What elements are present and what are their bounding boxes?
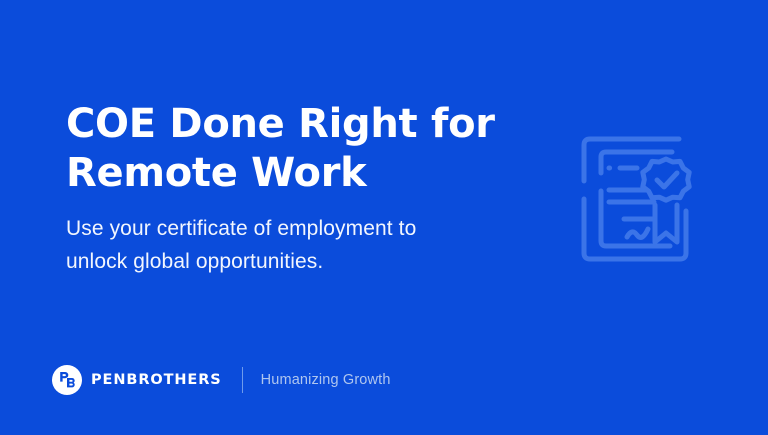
brand-name: PENBROTHERS — [91, 372, 222, 388]
brand-tagline: Humanizing Growth — [261, 372, 391, 388]
certificate-icon-svg — [558, 125, 708, 275]
certificate-icon — [558, 125, 708, 275]
promo-banner: COE Done Right for Remote Work Use your … — [0, 0, 768, 435]
brand-divider — [242, 367, 243, 393]
signature-squiggle — [627, 229, 648, 237]
penbrothers-monogram-icon — [52, 365, 82, 395]
brand-bar: PENBROTHERS Humanizing Growth — [52, 363, 391, 397]
banner-subtitle: Use your certificate of employment to un… — [66, 212, 536, 278]
banner-content: COE Done Right for Remote Work Use your … — [66, 100, 536, 278]
award-rosette — [643, 159, 689, 200]
penbrothers-monogram-svg — [56, 369, 78, 391]
rosette-ribbon — [655, 205, 677, 242]
page-title: COE Done Right for Remote Work — [66, 100, 536, 198]
